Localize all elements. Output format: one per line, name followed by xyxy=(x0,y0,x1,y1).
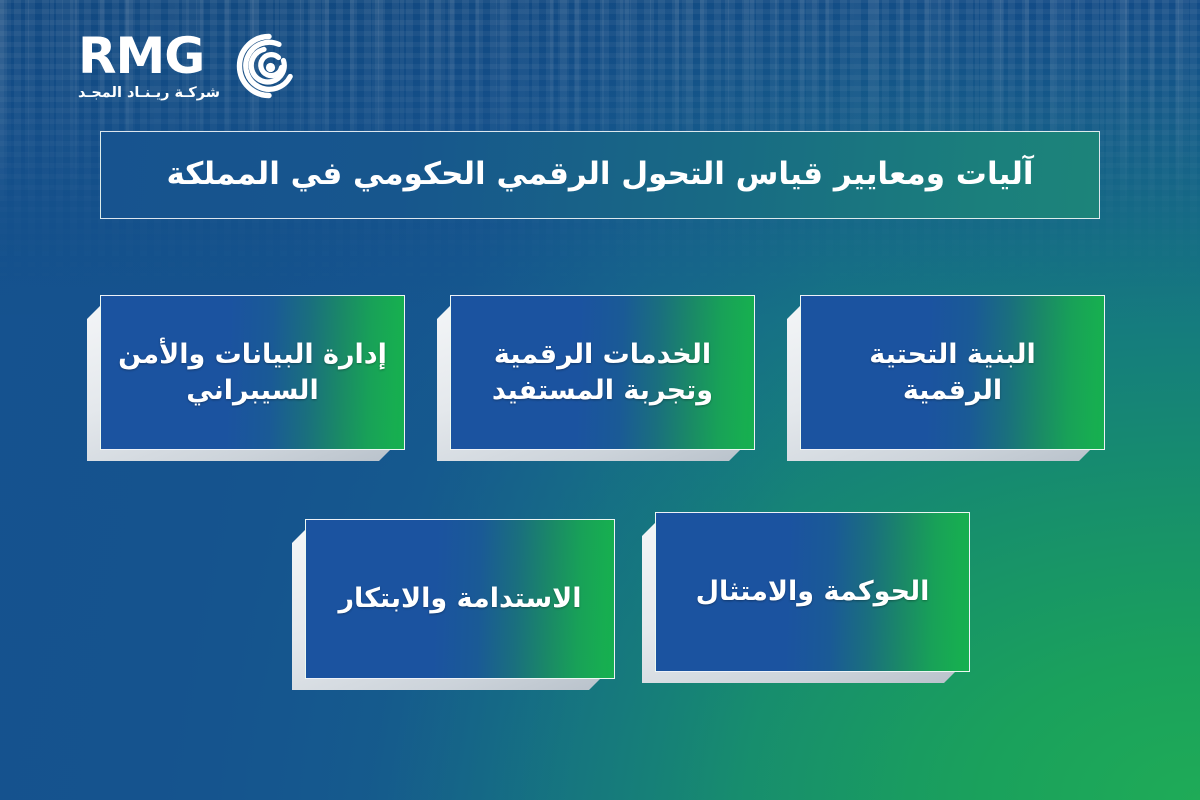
logo-text-block: RMG شركـة ريـنـاد المجـد xyxy=(78,31,220,101)
pillar-label: الحوكمة والامتثال xyxy=(696,574,930,609)
pillar-label: الخدمات الرقمية وتجربة المستفيد xyxy=(467,337,738,407)
card-face: الاستدامة والابتكار xyxy=(305,519,615,679)
pillar-card-digital-infrastructure[interactable]: البنية التحتية الرقمية xyxy=(800,295,1105,450)
pillar-label: إدارة البيانات والأمن السيبراني xyxy=(117,337,388,407)
page-title: آليات ومعايير قياس التحول الرقمي الحكومي… xyxy=(167,154,1034,196)
infographic-canvas: RMG شركـة ريـنـاد المجـد آليات ومعايير ق… xyxy=(0,0,1200,800)
pillar-card-governance-compliance[interactable]: الحوكمة والامتثال xyxy=(655,512,970,672)
card-face: الحوكمة والامتثال xyxy=(655,512,970,672)
card-face: البنية التحتية الرقمية xyxy=(800,295,1105,450)
card-face: الخدمات الرقمية وتجربة المستفيد xyxy=(450,295,755,450)
pillar-label: الاستدامة والابتكار xyxy=(339,581,582,616)
pillar-card-digital-services-beneficiary-experience[interactable]: الخدمات الرقمية وتجربة المستفيد xyxy=(450,295,755,450)
logo-wordmark: RMG xyxy=(78,31,204,81)
pillar-card-data-management-cybersecurity[interactable]: إدارة البيانات والأمن السيبراني xyxy=(100,295,405,450)
title-banner: آليات ومعايير قياس التحول الرقمي الحكومي… xyxy=(100,131,1100,219)
card-face: إدارة البيانات والأمن السيبراني xyxy=(100,295,405,450)
pillar-card-sustainability-innovation[interactable]: الاستدامة والابتكار xyxy=(305,519,615,679)
rmg-spiral-logo-icon xyxy=(234,31,304,101)
logo-subtitle-arabic: شركـة ريـنـاد المجـد xyxy=(78,86,220,101)
rmg-logo[interactable]: RMG شركـة ريـنـاد المجـد xyxy=(44,24,304,108)
pillar-label: البنية التحتية الرقمية xyxy=(817,337,1088,407)
